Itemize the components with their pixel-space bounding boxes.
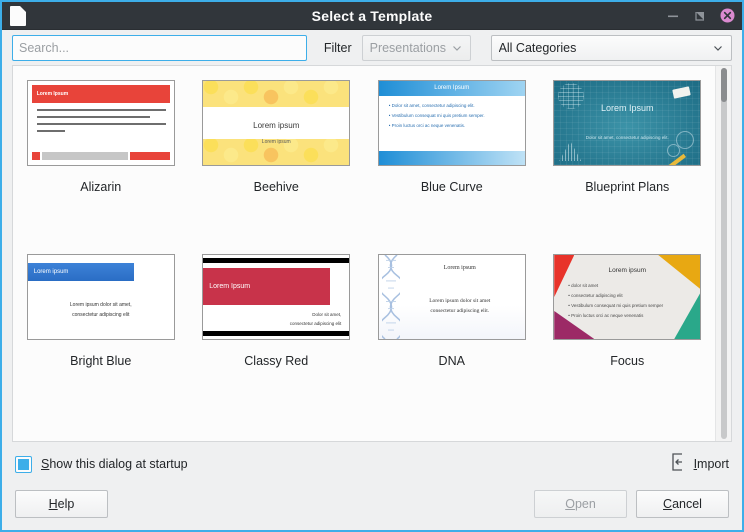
bright-blue-header: Lorem ipsum bbox=[28, 263, 135, 281]
filter-toolbar: Filter Presentations All Categories bbox=[2, 30, 742, 65]
dna-body: Lorem ipsum dolor sit amet consectetur a… bbox=[399, 297, 521, 317]
footer-options-row: Show this dialog at startup Import bbox=[15, 453, 729, 475]
footer-buttons-row: Help Open Cancel bbox=[15, 490, 729, 518]
close-button[interactable] bbox=[719, 8, 735, 24]
beehive-subtitle: Lorem ipsum bbox=[203, 139, 349, 145]
beehive-top-band bbox=[203, 81, 349, 107]
blue-curve-footer bbox=[379, 151, 525, 165]
blue-curve-bullets: • Dolor sit amet, consectetur adipiscing… bbox=[389, 103, 517, 133]
template-label: Bright Blue bbox=[70, 354, 131, 368]
alizarin-body bbox=[37, 109, 166, 137]
template-type-dropdown[interactable]: Presentations bbox=[362, 35, 471, 61]
template-item-dna[interactable]: Lorem ipsum Lorem ipsum dolor sit amet c… bbox=[364, 254, 540, 368]
alizarin-header: Lorem Ipsum bbox=[32, 85, 170, 103]
classy-red-body: Dolor sit amet, consectetur adipiscing e… bbox=[203, 311, 341, 328]
template-label: Classy Red bbox=[244, 354, 308, 368]
template-label: Blueprint Plans bbox=[585, 180, 669, 194]
bullet-item: • Proin luctus orci ac neque venenatis. bbox=[389, 123, 517, 128]
template-label: Focus bbox=[610, 354, 644, 368]
maximize-button[interactable] bbox=[692, 8, 708, 24]
scrollbar-thumb[interactable] bbox=[721, 68, 727, 102]
template-thumbnail: Lorem Ipsum bbox=[27, 80, 175, 166]
import-button[interactable]: Import bbox=[671, 453, 729, 476]
bullet-item: • Dolor sit amet, consectetur adipiscing… bbox=[389, 103, 517, 108]
classy-red-header: Lorem Ipsum bbox=[203, 268, 330, 305]
bullet-item: • Proin luctus orci ac neque venenatis bbox=[568, 313, 686, 318]
template-thumbnail: Lorem ipsum Lorem ipsum bbox=[202, 80, 350, 166]
import-arrow-icon bbox=[671, 453, 687, 476]
bullet-item: • consectetur adipiscing elit bbox=[568, 293, 686, 298]
bright-blue-body: Lorem ipsum dolor sit amet, consectetur … bbox=[28, 301, 174, 320]
template-item-focus[interactable]: Lorem ipsum • dolor sit amet • consectet… bbox=[540, 254, 716, 368]
focus-title: Lorem ipsum bbox=[554, 267, 700, 274]
title-bar: Select a Template bbox=[2, 2, 742, 30]
classy-red-bottom-bar bbox=[203, 331, 349, 336]
template-grid: Lorem Ipsum Alizarin bbox=[13, 66, 715, 441]
template-item-classy-red[interactable]: Lorem Ipsum Dolor sit amet, consectetur … bbox=[189, 254, 365, 368]
open-button[interactable]: Open bbox=[534, 490, 627, 518]
template-thumbnail: Lorem Ipsum Dolor sit amet, consectetur … bbox=[553, 80, 701, 166]
scrollbar-track[interactable] bbox=[721, 68, 727, 439]
focus-bullets: • dolor sit amet • consectetur adipiscin… bbox=[568, 283, 686, 323]
alizarin-footer bbox=[32, 152, 170, 160]
template-item-blueprint-plans[interactable]: Lorem Ipsum Dolor sit amet, consectetur … bbox=[540, 80, 716, 194]
template-item-blue-curve[interactable]: Lorem Ipsum • Dolor sit amet, consectetu… bbox=[364, 80, 540, 194]
import-label: Import bbox=[694, 457, 729, 471]
template-item-alizarin[interactable]: Lorem Ipsum Alizarin bbox=[13, 80, 189, 194]
template-type-value: Presentations bbox=[370, 41, 451, 55]
minimize-button[interactable] bbox=[665, 8, 681, 24]
template-thumbnail: Lorem ipsum Lorem ipsum dolor sit amet c… bbox=[378, 254, 526, 340]
filter-label: Filter bbox=[324, 41, 352, 55]
template-thumbnail: Lorem ipsum Lorem ipsum dolor sit amet, … bbox=[27, 254, 175, 340]
template-label: Alizarin bbox=[80, 180, 121, 194]
chevron-down-icon bbox=[451, 42, 463, 54]
vertical-scrollbar[interactable] bbox=[715, 66, 731, 441]
template-thumbnail: Lorem ipsum • dolor sit amet • consectet… bbox=[553, 254, 701, 340]
category-value: All Categories bbox=[499, 41, 712, 55]
beehive-title: Lorem ipsum bbox=[203, 121, 349, 130]
show-at-startup-label[interactable]: Show this dialog at startup bbox=[41, 457, 188, 471]
classy-red-top-bar bbox=[203, 258, 349, 263]
bullet-item: • dolor sit amet bbox=[568, 283, 686, 288]
template-list-area: Lorem Ipsum Alizarin bbox=[12, 65, 732, 442]
bullet-item: • Vestibulum consequat mi quis pretium s… bbox=[568, 303, 686, 308]
show-at-startup-checkbox[interactable] bbox=[15, 456, 32, 473]
blue-curve-header: Lorem Ipsum bbox=[379, 81, 525, 96]
bullet-item: • Vestibulum consequat mi quis pretium s… bbox=[389, 113, 517, 118]
select-template-dialog: Select a Template Filter Presentations A… bbox=[0, 0, 744, 532]
template-thumbnail: Lorem Ipsum Dolor sit amet, consectetur … bbox=[202, 254, 350, 340]
template-label: DNA bbox=[439, 354, 465, 368]
dialog-footer: Show this dialog at startup Import Help … bbox=[2, 442, 742, 530]
dna-helix-icon bbox=[382, 255, 400, 339]
template-label: Beehive bbox=[254, 180, 299, 194]
template-label: Blue Curve bbox=[421, 180, 483, 194]
template-item-beehive[interactable]: Lorem ipsum Lorem ipsum Beehive bbox=[189, 80, 365, 194]
chevron-down-icon bbox=[712, 42, 724, 54]
cancel-button[interactable]: Cancel bbox=[636, 490, 729, 518]
window-controls bbox=[665, 8, 735, 24]
blueprint-subtitle: Dolor sit amet, consectetur adipiscing e… bbox=[554, 135, 700, 140]
search-input[interactable] bbox=[12, 35, 307, 61]
blueprint-title: Lorem Ipsum bbox=[554, 103, 700, 113]
window-title: Select a Template bbox=[2, 8, 742, 24]
category-dropdown[interactable]: All Categories bbox=[491, 35, 732, 61]
checkbox-check bbox=[18, 459, 29, 470]
dna-title: Lorem ipsum bbox=[399, 265, 521, 271]
template-thumbnail: Lorem Ipsum • Dolor sit amet, consectetu… bbox=[378, 80, 526, 166]
template-item-bright-blue[interactable]: Lorem ipsum Lorem ipsum dolor sit amet, … bbox=[13, 254, 189, 368]
help-button[interactable]: Help bbox=[15, 490, 108, 518]
